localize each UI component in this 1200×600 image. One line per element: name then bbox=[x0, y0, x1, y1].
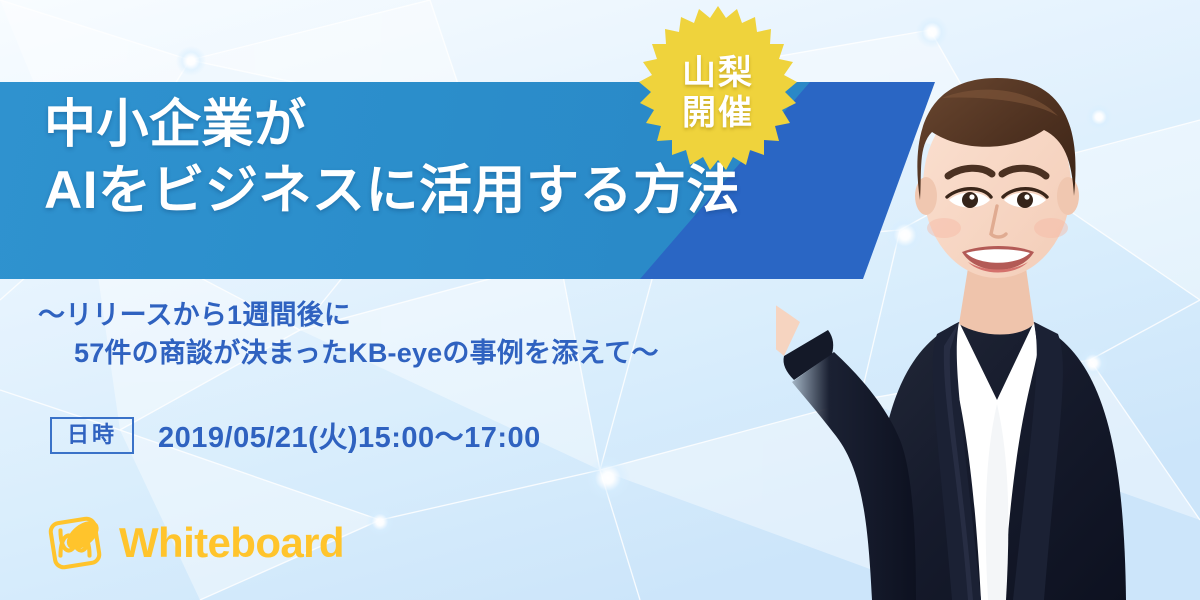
whiteboard-ribbon-square-icon bbox=[44, 512, 106, 574]
badge-line-1: 山梨 bbox=[682, 54, 754, 92]
glow-node bbox=[366, 508, 394, 536]
glow-node bbox=[176, 46, 206, 76]
glow-node bbox=[586, 456, 630, 500]
glow-node bbox=[996, 156, 1026, 186]
subtitle: 〜リリースから1週間後に 57件の商談が決まったKB-eyeの事例を添えて〜 bbox=[38, 296, 659, 373]
badge-line-2: 開催 bbox=[682, 94, 754, 132]
status-badge: 山梨 開催 bbox=[632, 4, 804, 182]
date-value: 2019/05/21(火)15:00〜17:00 bbox=[158, 414, 541, 456]
glow-node bbox=[1078, 348, 1108, 378]
event-banner: 中小企業が AIをビジネスに活用する方法 山梨 開催 〜リリースから1週間後に … bbox=[0, 0, 1200, 600]
brand-wordmark: Whiteboard bbox=[119, 522, 344, 564]
subtitle-line-1: 〜リリースから1週間後に bbox=[38, 296, 659, 334]
date-label-box: 日時 bbox=[50, 417, 134, 454]
glow-node bbox=[848, 388, 874, 414]
subtitle-line-2: 57件の商談が決まったKB-eyeの事例を添えて〜 bbox=[38, 334, 659, 372]
brand-logo[interactable]: Whiteboard bbox=[44, 512, 344, 574]
glow-node bbox=[1086, 104, 1112, 130]
glow-node bbox=[916, 16, 948, 48]
event-date-row: 日時 2019/05/21(火)15:00〜17:00 bbox=[50, 414, 541, 456]
